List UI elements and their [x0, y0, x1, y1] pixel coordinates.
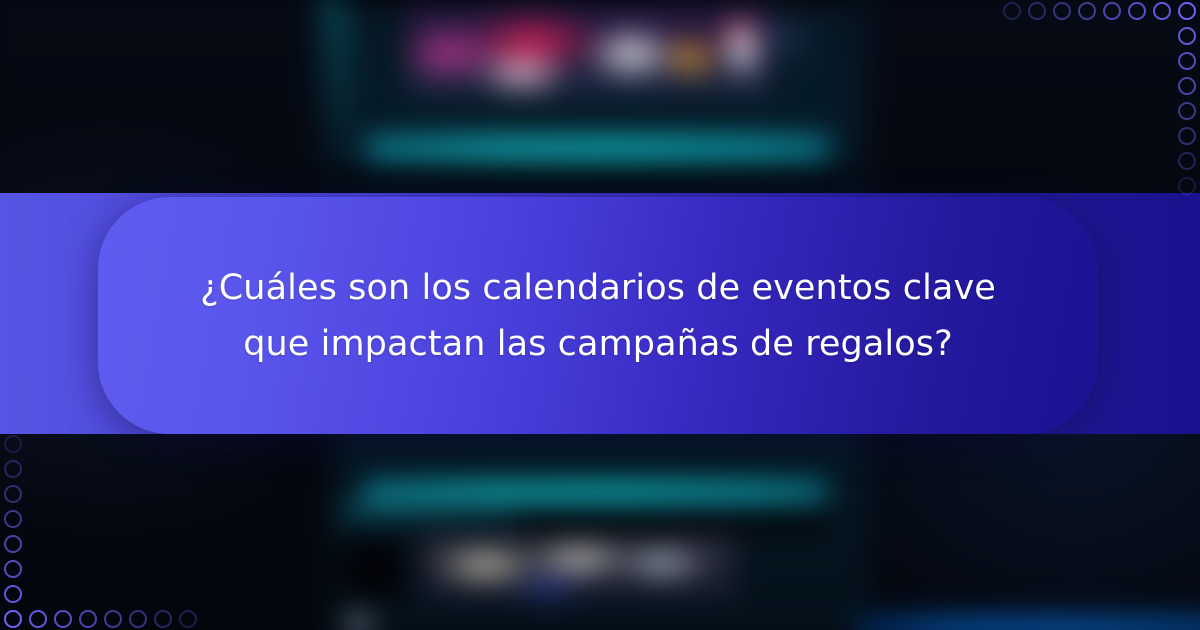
decorative-dot [1103, 2, 1121, 20]
decorative-dot [104, 610, 122, 628]
decorative-dot [1178, 77, 1196, 95]
decorative-dot [4, 460, 22, 478]
decorative-dot [29, 610, 47, 628]
decorative-dot [4, 560, 22, 578]
decorative-dot [1178, 27, 1196, 45]
decorative-dot [4, 485, 22, 503]
decorative-dot [1178, 177, 1196, 195]
decorative-dot [129, 610, 147, 628]
background-photo-placeholder [342, 539, 404, 599]
decorative-dot [54, 610, 72, 628]
decorative-dot [179, 610, 197, 628]
decorative-dot [1178, 52, 1196, 70]
question-line-1: ¿Cuáles son los calendarios de eventos c… [200, 268, 996, 308]
screenshot-stage: ¿Cuáles son los calendarios de eventos c… [0, 0, 1200, 630]
question-line-2: que impactan las campañas de regalos? [243, 324, 953, 364]
decorative-dot [1153, 2, 1171, 20]
background-banner-thumb [748, 0, 823, 71]
decorative-dot [1053, 2, 1071, 20]
background-teal-bar-bottom [363, 480, 827, 504]
question-card[interactable]: ¿Cuáles son los calendarios de eventos c… [98, 197, 1098, 434]
decorative-dot [1003, 2, 1021, 20]
background-teal-glow [319, 0, 350, 175]
decorative-dot [4, 510, 22, 528]
background-teal-bar-top [366, 135, 830, 161]
background-hero-banner [408, 6, 772, 95]
decorative-dot [154, 610, 172, 628]
decorative-dot [4, 585, 22, 603]
background-content-block [517, 507, 829, 532]
decorative-dot [4, 535, 22, 553]
background-blue-footer-bar [855, 617, 1200, 630]
decorative-dot [1178, 127, 1196, 145]
decorative-dot [1028, 2, 1046, 20]
question-text: ¿Cuáles son los calendarios de eventos c… [144, 260, 1052, 372]
decorative-dot [1178, 2, 1196, 20]
decorative-dot [4, 610, 22, 628]
decorative-dot [1128, 2, 1146, 20]
background-divider-block [335, 169, 855, 190]
decorative-dot [79, 610, 97, 628]
background-secondary-image [423, 537, 735, 599]
decorative-dot [4, 435, 22, 453]
decorative-dot [1078, 2, 1096, 20]
decorative-dot [1178, 152, 1196, 170]
decorative-dot [1178, 102, 1196, 120]
